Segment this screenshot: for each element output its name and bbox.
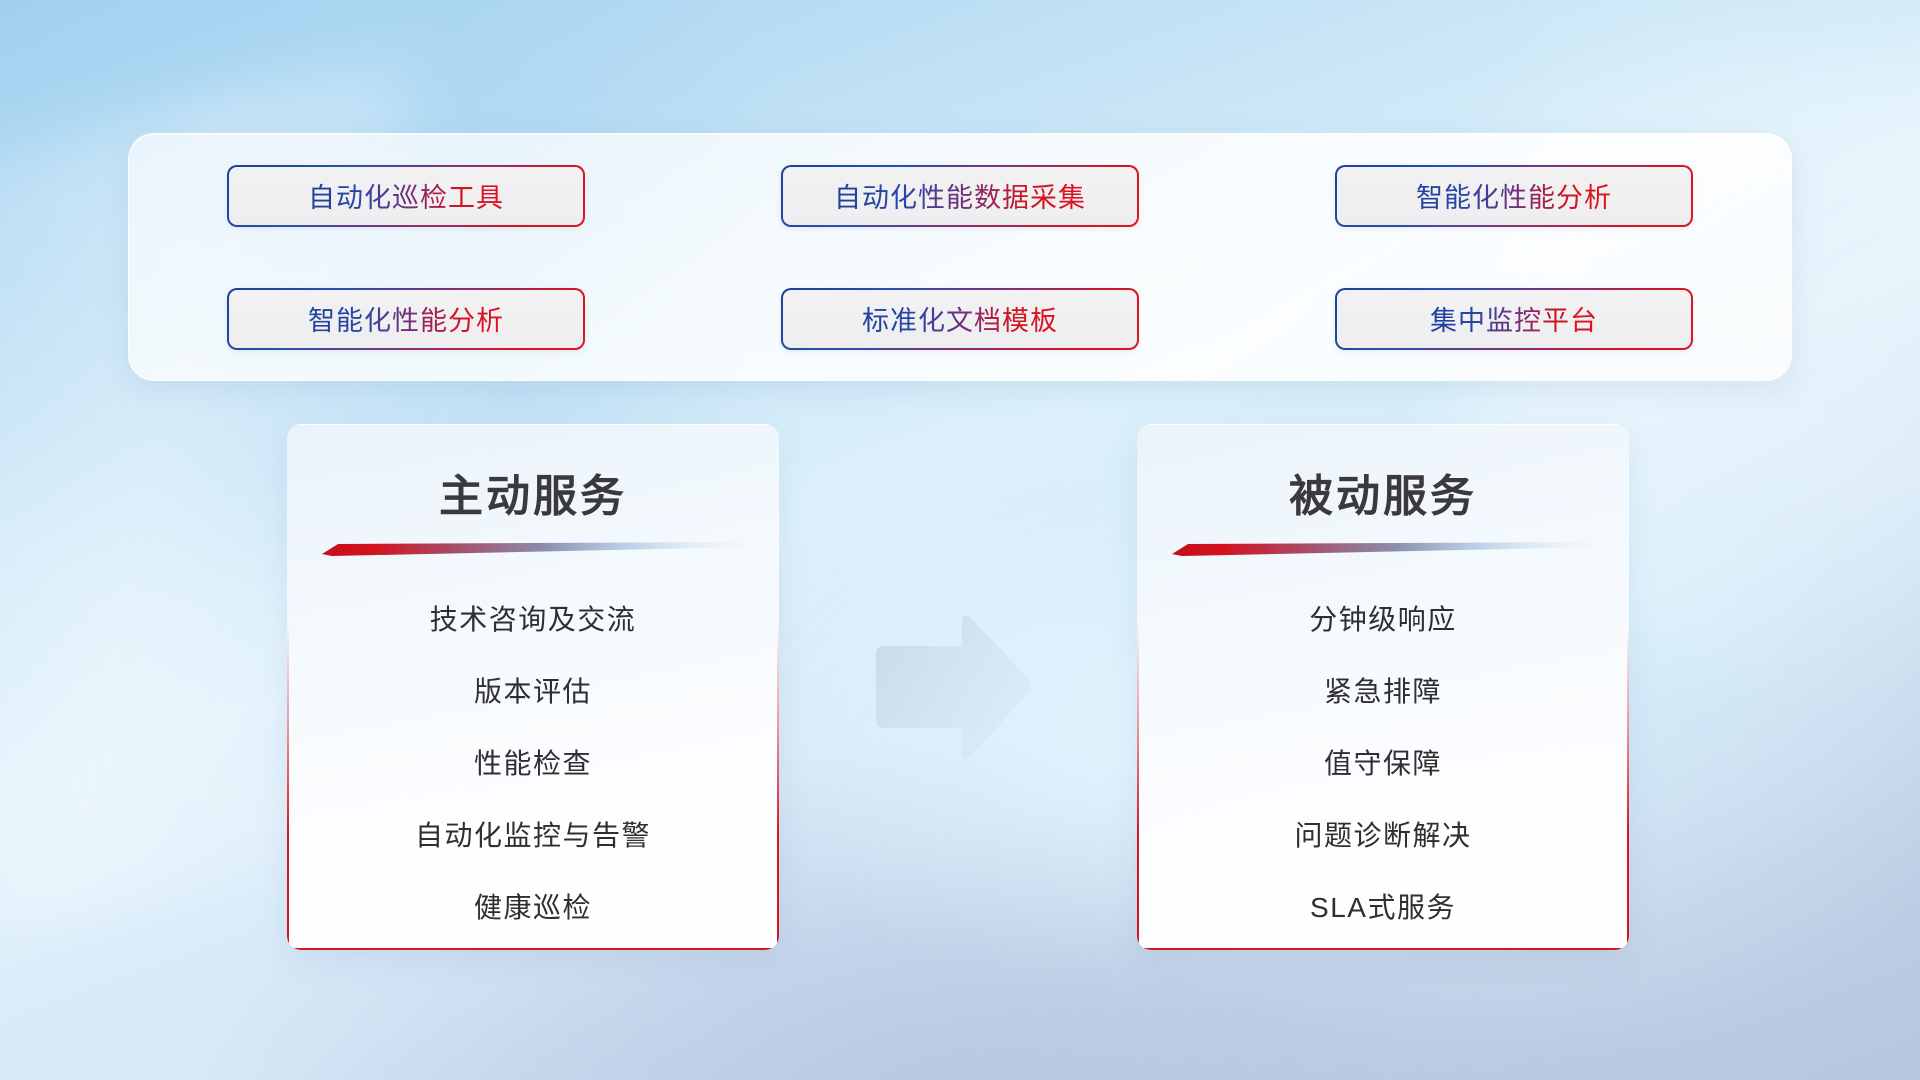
service-card-list: 技术咨询及交流 版本评估 性能检查 自动化监控与告警 健康巡检	[287, 584, 779, 944]
service-card-passive: 被动服务 分钟级响应 紧急排障 值守保障	[1137, 424, 1629, 950]
capability-pill[interactable]: 智能化性能分析	[227, 288, 585, 350]
infographic-canvas: 自动化巡检工具 自动化性能数据采集 智能化性能分析 智能化性能分析 标准化文档模…	[0, 0, 1920, 1080]
service-list-item: 技术咨询及交流	[430, 584, 637, 656]
capability-pill-label: 集中监控平台	[1430, 299, 1598, 338]
capability-pill[interactable]: 集中监控平台	[1335, 288, 1693, 350]
card-divider-gradient	[322, 542, 750, 556]
capability-pill-label: 智能化性能分析	[1416, 176, 1612, 215]
capability-pill-label: 自动化巡检工具	[308, 176, 504, 215]
card-bottom-accent	[287, 948, 779, 950]
service-card-title: 主动服务	[287, 460, 779, 524]
capability-pill[interactable]: 智能化性能分析	[1335, 165, 1693, 227]
capability-pill-label: 自动化性能数据采集	[834, 176, 1086, 215]
service-list-item: 自动化监控与告警	[415, 800, 651, 872]
capability-pill[interactable]: 自动化巡检工具	[227, 165, 585, 227]
capability-pill-panel: 自动化巡检工具 自动化性能数据采集 智能化性能分析 智能化性能分析 标准化文档模…	[128, 133, 1792, 381]
service-card-list: 分钟级响应 紧急排障 值守保障 问题诊断解决 SLA式服务	[1137, 584, 1629, 944]
service-card-active: 主动服务 技术咨询及交流 版本评估 性能检查	[287, 424, 779, 950]
service-list-item: 分钟级响应	[1309, 584, 1457, 656]
card-top-hairline	[287, 424, 779, 425]
card-divider-gradient	[1172, 542, 1600, 556]
service-card-title: 被动服务	[1137, 460, 1629, 524]
capability-pill-grid: 自动化巡检工具 自动化性能数据采集 智能化性能分析 智能化性能分析 标准化文档模…	[129, 134, 1791, 380]
capability-pill-label: 标准化文档模板	[862, 299, 1058, 338]
service-list-item: 健康巡检	[474, 872, 592, 944]
service-list-item: 值守保障	[1324, 728, 1442, 800]
capability-pill[interactable]: 自动化性能数据采集	[781, 165, 1139, 227]
service-list-item: 问题诊断解决	[1294, 800, 1471, 872]
service-list-item: 性能检查	[474, 728, 592, 800]
service-list-item: 紧急排障	[1324, 656, 1442, 728]
capability-pill[interactable]: 标准化文档模板	[781, 288, 1139, 350]
card-bottom-accent	[1137, 948, 1629, 950]
service-list-item: 版本评估	[474, 656, 592, 728]
right-arrow-icon	[870, 612, 1034, 762]
service-list-item: SLA式服务	[1310, 872, 1456, 944]
card-top-hairline	[1137, 424, 1629, 425]
capability-pill-label: 智能化性能分析	[308, 299, 504, 338]
